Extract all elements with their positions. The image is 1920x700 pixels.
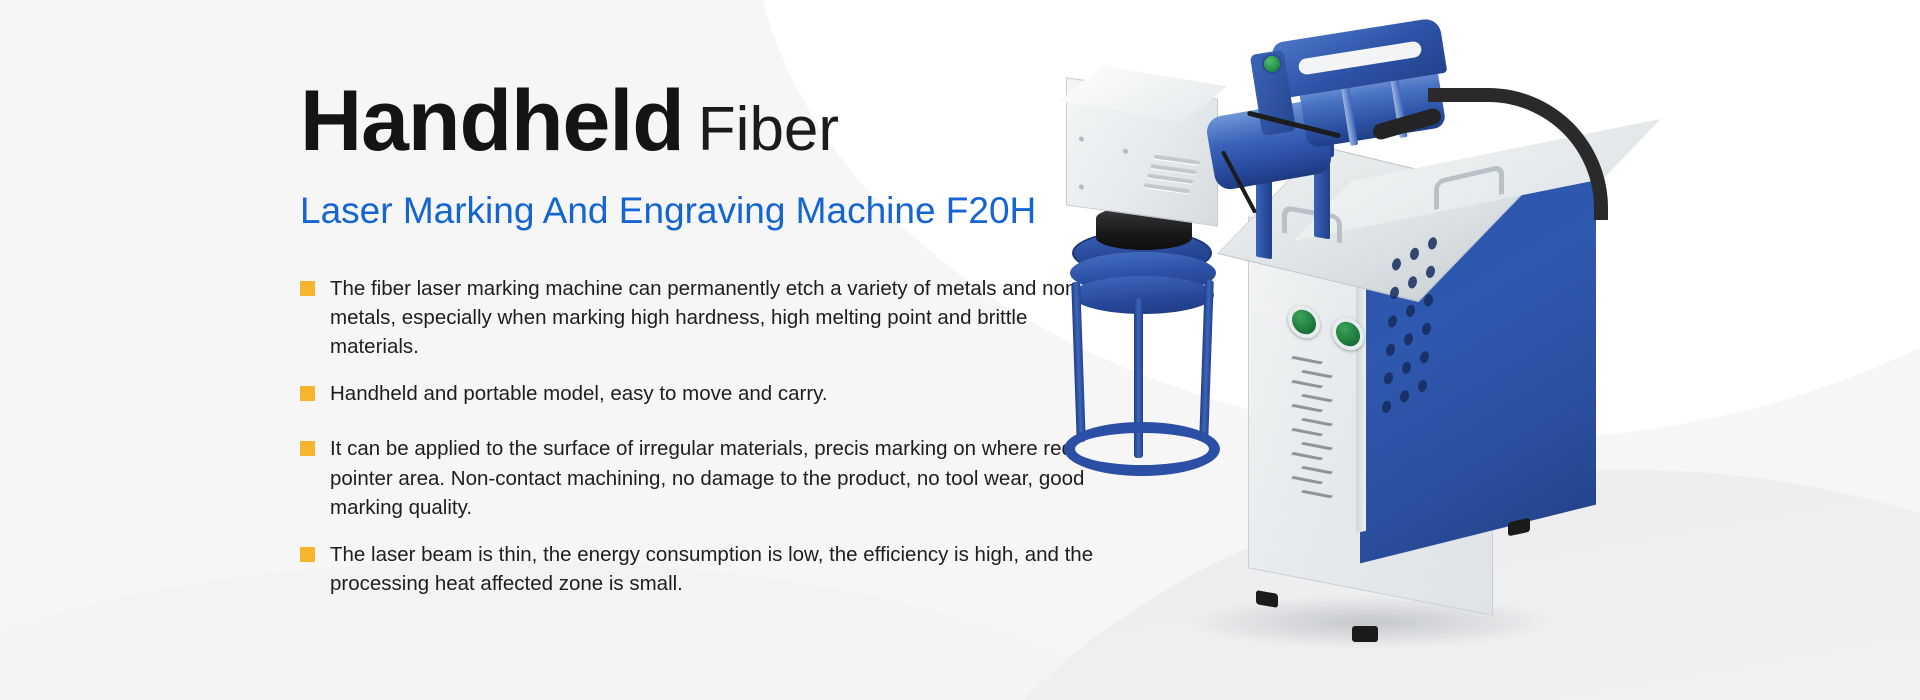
product-banner: HandheldFiber Laser Marking And Engravin…	[0, 0, 1920, 700]
bullet-square-icon	[300, 441, 315, 456]
product-image	[1060, 30, 1660, 670]
list-item-text: Handheld and portable model, easy to mov…	[330, 379, 828, 408]
list-item: The fiber laser marking machine can perm…	[300, 274, 1120, 361]
cabinet-vent-slots-icon	[1292, 356, 1336, 545]
banner-text-column: HandheldFiber Laser Marking And Engravin…	[300, 78, 1130, 616]
page-title: HandheldFiber	[300, 78, 1130, 164]
bullet-square-icon	[300, 547, 315, 562]
stand-base-ring	[1064, 422, 1220, 476]
head-vent-louvers-icon	[1142, 155, 1217, 202]
fiber-cable-conduit	[1428, 88, 1608, 220]
cabinet-foot	[1352, 626, 1378, 642]
trigger-button-green[interactable]	[1262, 54, 1282, 74]
list-item-text: It can be applied to the surface of irre…	[330, 434, 1120, 521]
cabinet-perforation-holes-icon	[1390, 234, 1470, 444]
list-item-text: The fiber laser marking machine can perm…	[330, 274, 1120, 361]
list-item-text: The laser beam is thin, the energy consu…	[330, 540, 1120, 598]
headline-strong: Handheld	[300, 73, 684, 169]
page-subtitle: Laser Marking And Engraving Machine F20H	[300, 190, 1130, 232]
stand-leg	[1071, 282, 1086, 442]
focus-ring-lower	[1072, 276, 1214, 314]
list-item: Handheld and portable model, easy to mov…	[300, 379, 1120, 408]
headline-light: Fiber	[698, 95, 839, 164]
cabinet-foot	[1508, 518, 1530, 537]
bullet-square-icon	[300, 281, 315, 296]
list-item: It can be applied to the surface of irre…	[300, 434, 1120, 521]
bullet-square-icon	[300, 386, 315, 401]
feature-list: The fiber laser marking machine can perm…	[300, 274, 1120, 598]
list-item: The laser beam is thin, the energy consu…	[300, 540, 1120, 598]
